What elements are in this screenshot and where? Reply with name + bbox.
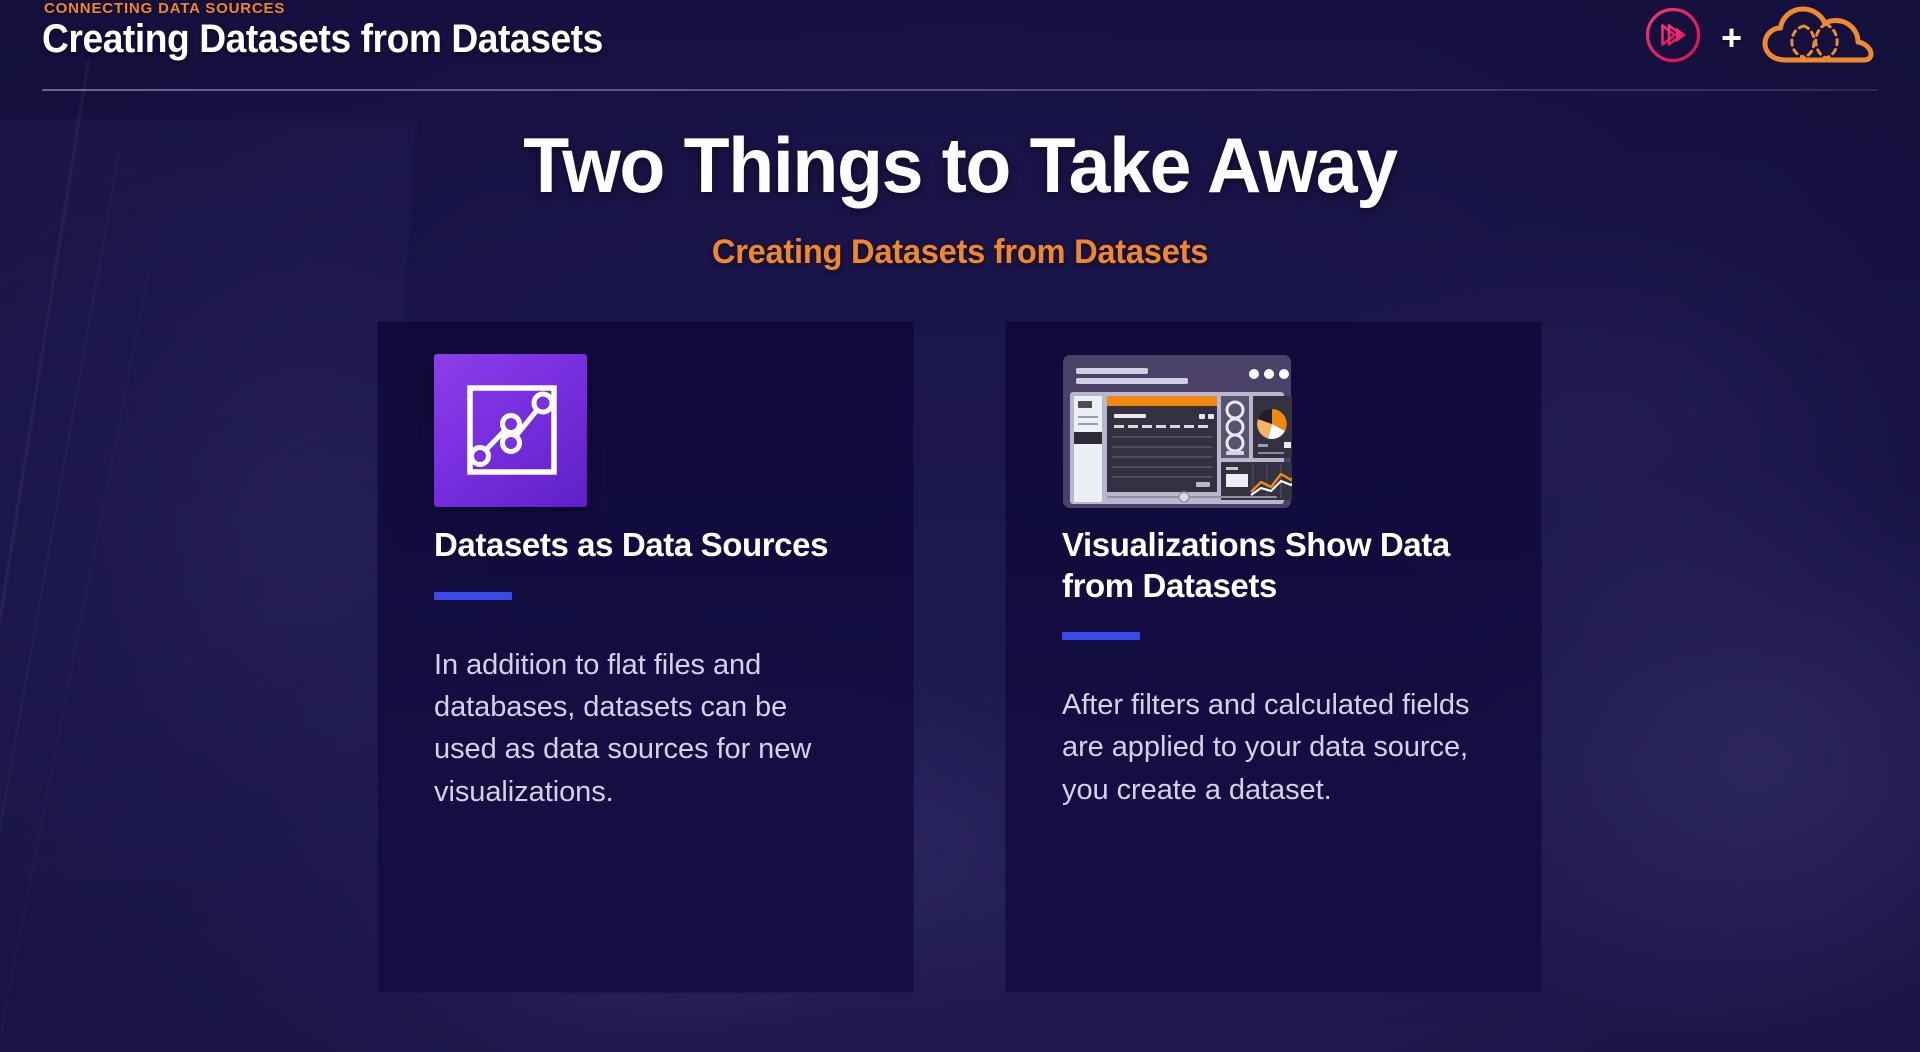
takeaway-cards: Datasets as Data Sources In addition to … (377, 321, 1542, 993)
line-chart-tile-icon (434, 354, 587, 507)
card-accent-bar (434, 592, 512, 600)
card-icon-wrapper (1062, 354, 1482, 519)
cloud-logo (1760, 4, 1878, 71)
card-title: Datasets as Data Sources (434, 525, 854, 566)
card-body-text: After filters and calculated fields are … (1062, 684, 1482, 811)
header-logos: + (1643, 4, 1878, 71)
dashboard-window-icon (1062, 354, 1292, 509)
slide-subtitle: Creating Datasets from Datasets (38, 233, 1881, 272)
takeaway-card: Datasets as Data Sources In addition to … (377, 321, 914, 993)
slide-title: Two Things to Take Away (34, 125, 1887, 207)
header-eyebrow: CONNECTING DATA SOURCES (44, 0, 285, 17)
play-circle-logo (1643, 5, 1703, 70)
card-accent-bar (1062, 632, 1140, 640)
card-icon-wrapper (434, 354, 854, 519)
card-body-text: In addition to flat files and databases,… (434, 644, 854, 813)
slide-header: CONNECTING DATA SOURCES Creating Dataset… (0, 0, 1920, 96)
takeaway-card: Visualizations Show Data from Datasets A… (1005, 321, 1542, 993)
card-title: Visualizations Show Data from Datasets (1062, 525, 1482, 606)
plus-separator: + (1721, 20, 1742, 56)
header-title: Creating Datasets from Datasets (42, 17, 603, 62)
header-divider (42, 89, 1878, 91)
